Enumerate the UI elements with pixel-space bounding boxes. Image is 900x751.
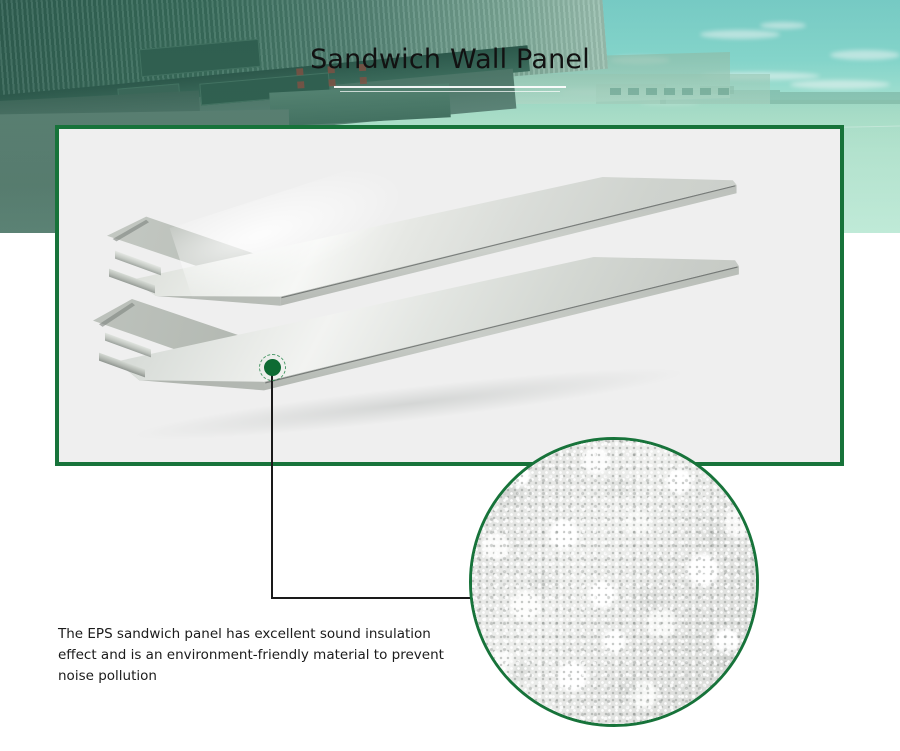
feature-caption: The EPS sandwich panel has excellent sou… [58,624,458,687]
product-image-box [55,125,844,466]
title-underline-secondary [340,91,560,92]
cloud-icon [790,80,890,89]
title-underline [334,86,566,88]
page-title-wrap: Sandwich Wall Panel [0,44,900,75]
page-title: Sandwich Wall Panel [310,44,590,75]
building-window [646,88,657,95]
foam-detail-circle [469,437,759,727]
building-window [718,88,729,95]
building-window [610,88,621,95]
cloud-icon [760,22,806,29]
sandwich-panel-stack-image [59,129,840,462]
building-window [664,88,675,95]
building-window [682,88,693,95]
eps-foam-beads-coarse [469,437,759,727]
callout-anchor-dot[interactable] [264,359,281,376]
building-window [700,88,711,95]
distant-building [780,92,900,104]
panel-tongue-edge [115,251,161,276]
cloud-icon [700,30,780,39]
building-window [628,88,639,95]
